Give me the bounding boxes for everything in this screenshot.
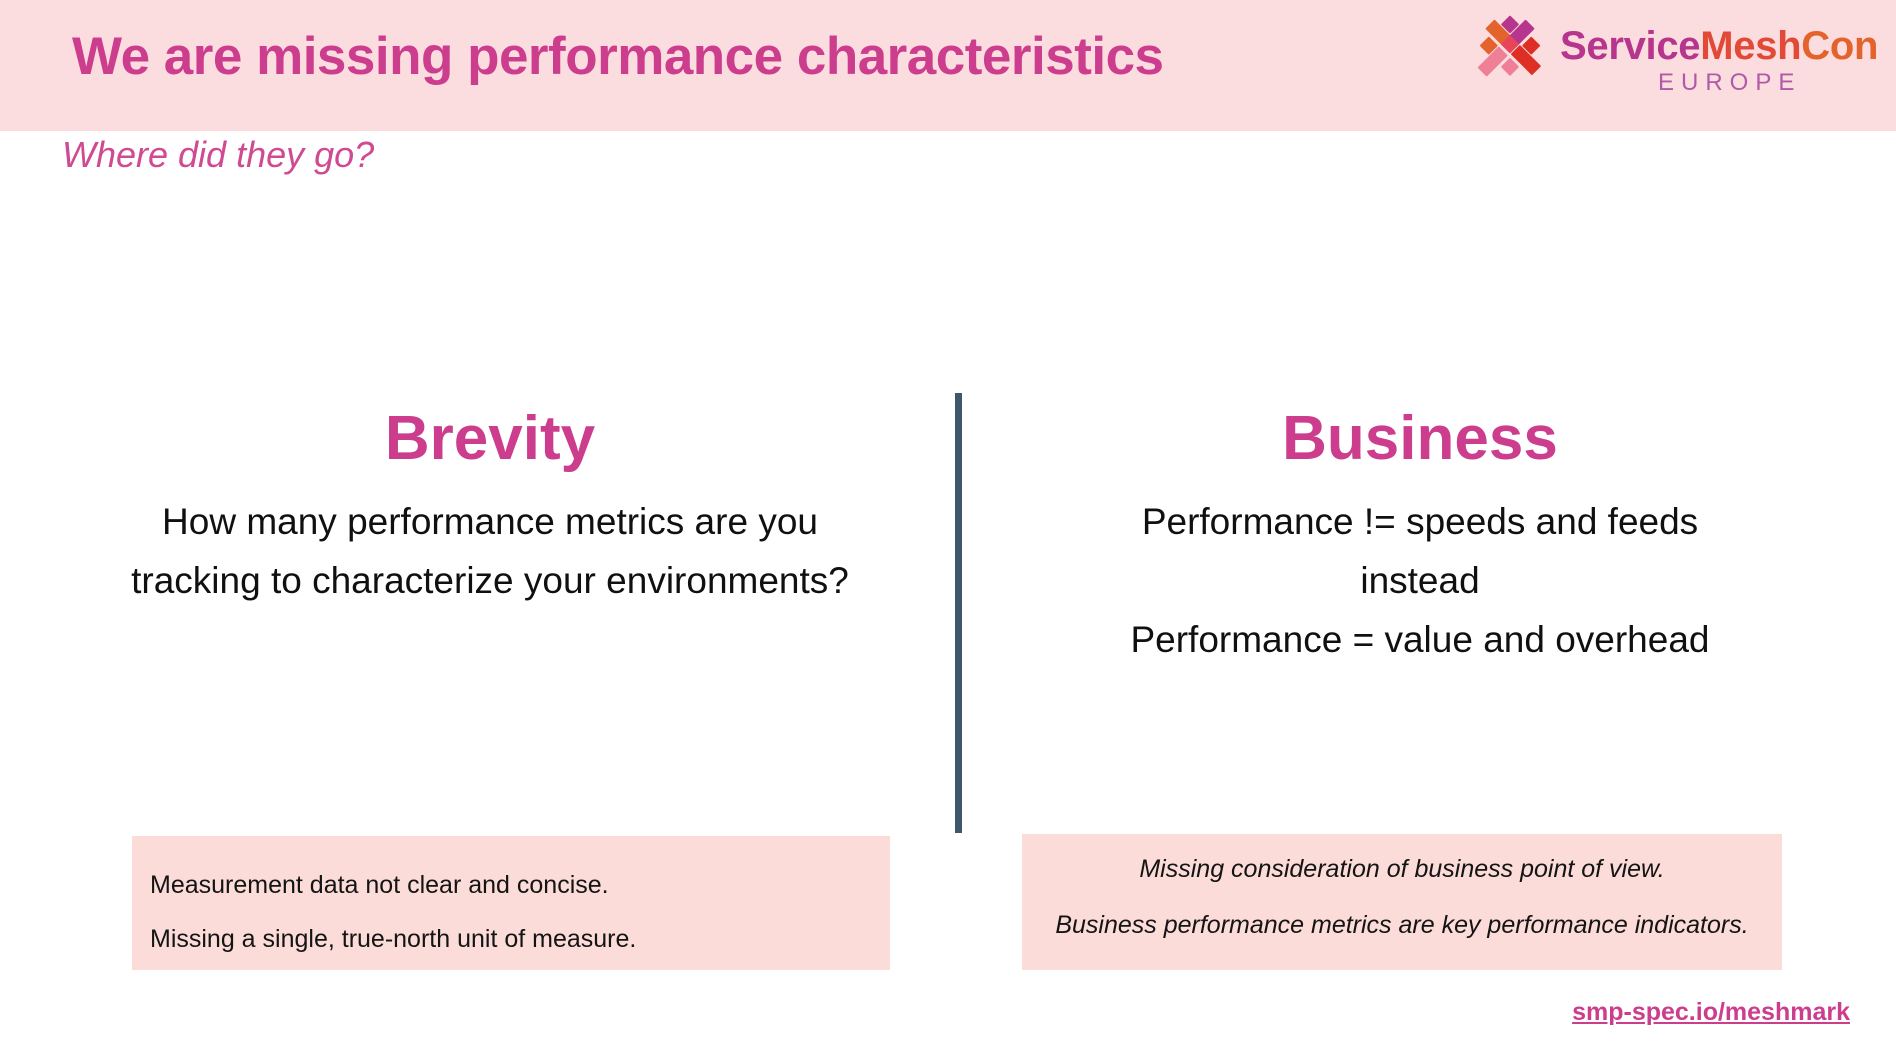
callout-business-line-2: Business performance metrics are key per… — [1048, 904, 1756, 946]
column-heading-brevity: Brevity — [40, 400, 940, 478]
slide-subtitle: Where did they go? — [62, 134, 374, 176]
callout-business: Missing consideration of business point … — [1022, 834, 1782, 970]
callout-brevity: Measurement data not clear and concise. … — [132, 836, 890, 970]
column-body-business-line3: Performance = value and overhead — [980, 610, 1860, 669]
column-business: Business Performance != speeds and feeds… — [980, 400, 1860, 669]
logo-region-label: EUROPE — [1658, 69, 1801, 97]
logo-wordmark: ServiceMeshCon — [1560, 24, 1878, 69]
logo-word-con: Con — [1801, 24, 1878, 68]
callout-business-line-1: Missing consideration of business point … — [1048, 848, 1756, 890]
slide: We are missing performance characteristi… — [0, 0, 1896, 1063]
logo-word-service: Service — [1560, 24, 1700, 68]
mesh-diamond-icon — [1468, 10, 1552, 94]
callout-brevity-line-1: Measurement data not clear and concise. — [150, 858, 872, 912]
footer-link-smp-spec[interactable]: smp-spec.io/meshmark — [1572, 998, 1850, 1027]
column-body-business-line1: Performance != speeds and feeds — [980, 492, 1860, 551]
servicemeshcon-logo: ServiceMeshCon EUROPE — [1468, 6, 1880, 122]
column-brevity: Brevity How many performance metrics are… — [40, 400, 940, 610]
callout-brevity-line-2: Missing a single, true-north unit of mea… — [150, 912, 872, 966]
logo-word-mesh: Mesh — [1700, 24, 1801, 68]
column-divider — [955, 393, 962, 833]
column-heading-business: Business — [980, 400, 1860, 478]
page-title: We are missing performance characteristi… — [72, 24, 1452, 90]
column-body-brevity: How many performance metrics are you tra… — [40, 492, 940, 610]
column-body-business-line2: instead — [980, 551, 1860, 610]
